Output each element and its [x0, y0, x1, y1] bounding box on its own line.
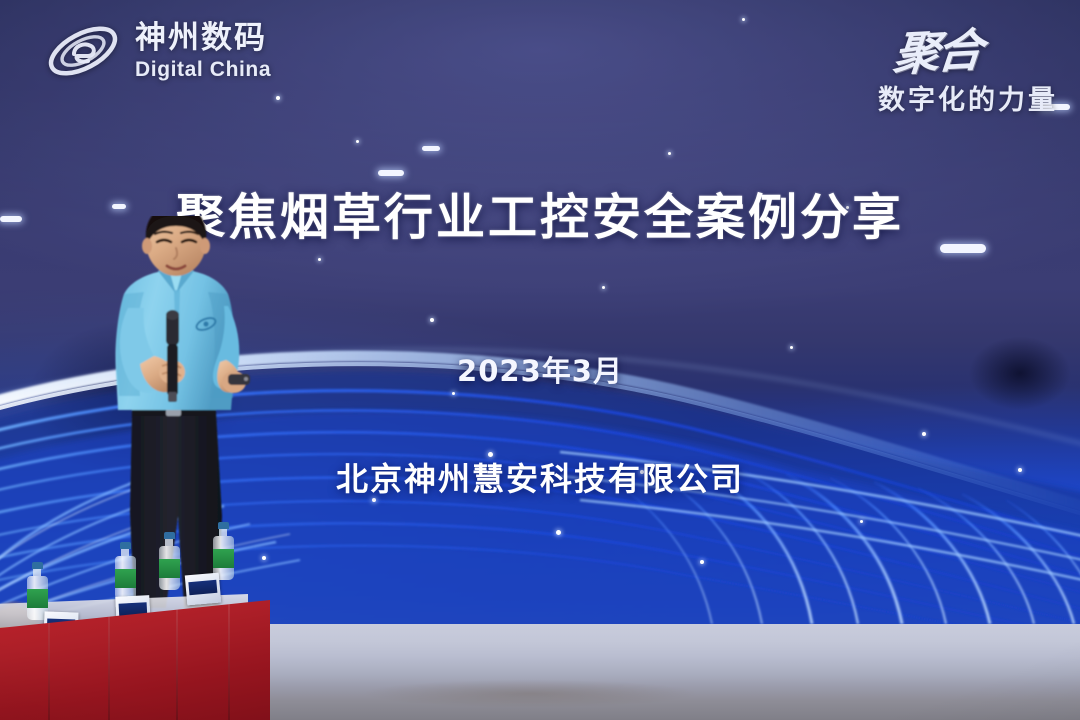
foreground-table — [0, 566, 280, 720]
digital-china-swirl-logo-icon — [44, 20, 122, 82]
bottle-cap — [32, 562, 43, 569]
event-logo: 聚合 数字化的力量 — [878, 16, 1058, 117]
bottle-cap — [218, 522, 229, 529]
name-card — [185, 573, 221, 606]
digital-china-logo: 神州数码 Digital China — [44, 20, 271, 82]
bottle-label — [115, 569, 136, 588]
brand-name-cn: 神州数码 — [135, 23, 271, 54]
bottle-body — [115, 556, 136, 600]
name-card-strip — [188, 580, 217, 595]
bottle-neck — [165, 539, 173, 546]
bottle-neck — [219, 529, 227, 536]
bottle-neck — [121, 549, 129, 556]
water-bottle — [158, 532, 180, 590]
stage-floor-marks — [320, 676, 740, 720]
bottle-label — [159, 559, 180, 578]
brand-name-en: Digital China — [135, 59, 271, 80]
event-calligraphy: 聚合 — [891, 14, 983, 84]
handheld-microphone-icon — [166, 310, 179, 402]
stage-floor-glow — [230, 626, 990, 672]
event-tagline: 数字化的力量 — [878, 78, 1058, 117]
bottle-label — [27, 589, 48, 608]
conference-photo: 神州数码 Digital China 聚合 数字化的力量 聚焦烟草行业工控安全案… — [0, 0, 1080, 720]
bottle-cap — [120, 542, 131, 549]
water-bottle — [114, 542, 136, 600]
water-bottle — [212, 522, 234, 580]
digital-china-wordmark: 神州数码 Digital China — [135, 23, 271, 80]
bottle-neck — [33, 569, 41, 576]
bottle-body — [159, 546, 180, 590]
bottle-cap — [164, 532, 175, 539]
bottle-label — [213, 549, 234, 568]
